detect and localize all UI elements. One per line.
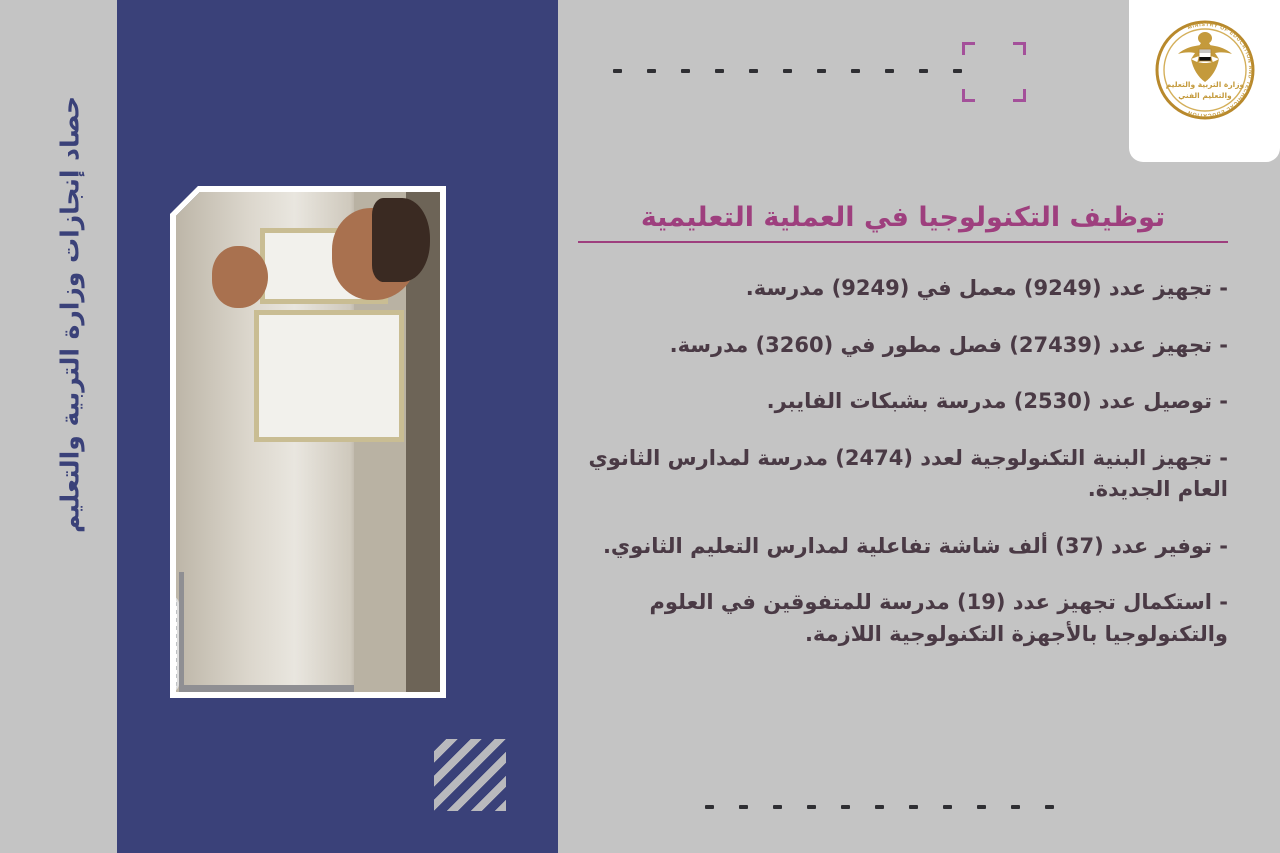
dash-mark — [749, 69, 758, 73]
dash-mark — [1011, 805, 1020, 809]
dash-mark — [681, 69, 690, 73]
corner-bracket-top-left-icon — [962, 42, 975, 55]
corner-bracket-bottom-right-icon — [1013, 89, 1026, 102]
list-item: - تجهيز عدد (9249) معمل في (9249) مدرسة. — [578, 273, 1228, 305]
dash-mark — [817, 69, 826, 73]
dash-mark — [613, 69, 622, 73]
dash-mark — [739, 805, 748, 809]
ministry-seal-icon: وزارة التربية والتعليم والتعليم الفني MI… — [1150, 15, 1260, 125]
photo-frame — [170, 186, 446, 698]
dash-mark — [783, 69, 792, 73]
dash-mark — [851, 69, 860, 73]
logo-arabic-line-2: والتعليم الفني — [1178, 91, 1232, 100]
sidebar-vertical-title: حصاد إنجازات وزارة التربية والتعليم — [56, 75, 85, 555]
page-title: توظيف التكنولوجيا في العملية التعليمية — [578, 200, 1228, 243]
corner-bracket-bottom-left-icon — [962, 89, 975, 102]
dash-mark — [705, 805, 714, 809]
list-item: - توفير عدد (37) ألف شاشة تفاعلية لمدارس… — [578, 531, 1228, 563]
list-item: - تجهيز البنية التكنولوجية لعدد (2474) م… — [578, 443, 1228, 506]
content-column: توظيف التكنولوجيا في العملية التعليمية -… — [578, 200, 1228, 675]
photo-scene-illustration — [176, 192, 440, 692]
logo-card: وزارة التربية والتعليم والتعليم الفني MI… — [1129, 0, 1280, 162]
dash-mark — [953, 69, 962, 73]
focus-frame-decoration — [962, 42, 1026, 102]
bottom-dashed-divider — [705, 805, 1054, 809]
dash-mark — [909, 805, 918, 809]
slide-canvas: حصاد إنجازات وزارة التربية والتعليم — [0, 0, 1280, 853]
dash-mark — [875, 805, 884, 809]
diagonal-hatch-decoration — [434, 739, 506, 811]
list-item: - استكمال تجهيز عدد (19) مدرسة للمتفوقين… — [578, 587, 1228, 650]
top-dashed-divider — [613, 69, 962, 73]
laboratory-photo — [176, 192, 440, 692]
dash-mark — [773, 805, 782, 809]
corner-bracket-top-right-icon — [1013, 42, 1026, 55]
dash-mark — [885, 69, 894, 73]
dash-mark — [977, 805, 986, 809]
list-item: - توصيل عدد (2530) مدرسة بشبكات الفايبر. — [578, 386, 1228, 418]
dash-mark — [919, 69, 928, 73]
list-item: - تجهيز عدد (27439) فصل مطور في (3260) م… — [578, 330, 1228, 362]
dash-mark — [807, 805, 816, 809]
dash-mark — [1045, 805, 1054, 809]
dash-mark — [943, 805, 952, 809]
dash-mark — [841, 805, 850, 809]
logo-arabic-line-1: وزارة التربية والتعليم — [1165, 80, 1244, 89]
dash-mark — [715, 69, 724, 73]
dash-mark — [647, 69, 656, 73]
